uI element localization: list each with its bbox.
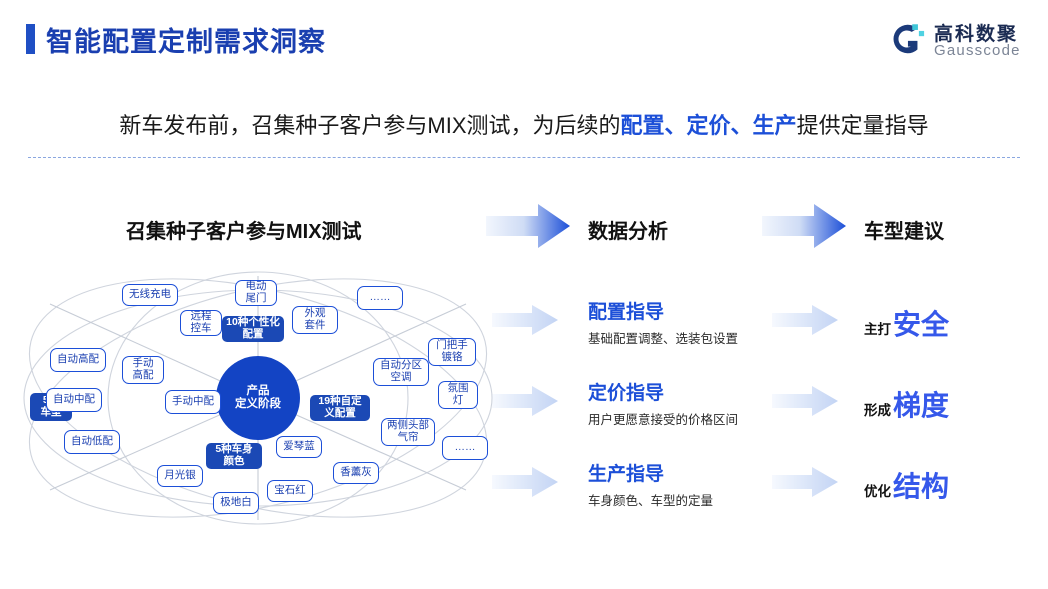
column-heading-data-analysis: 数据分析 [588, 215, 668, 244]
analysis-subtitle: 基础配置调整、选装包设置 [588, 328, 738, 347]
mindmap-node[interactable]: 电动 尾门 [235, 280, 277, 306]
mindmap-node[interactable]: 远程 控车 [180, 310, 222, 336]
mindmap-node[interactable]: 爱琴蓝 [276, 436, 322, 458]
section-divider [28, 157, 1020, 158]
mindmap-node[interactable]: 极地白 [213, 492, 259, 514]
suggestion-keyword: 梯度 [893, 384, 949, 424]
mindmap-node[interactable]: 氛围 灯 [438, 381, 478, 409]
mindmap-node[interactable]: 外观 套件 [292, 306, 338, 334]
analysis-title: 配置指导 [588, 297, 738, 324]
subtitle-highlight: 配置、定价、生产 [621, 113, 797, 138]
page-header: 智能配置定制需求洞察 高科数聚 Gausscode [0, 0, 1048, 76]
mindmap-node[interactable]: 自动分区 空调 [373, 358, 429, 386]
subtitle: 新车发布前，召集种子客户参与MIX测试，为后续的配置、定价、生产提供定量指导 [0, 108, 1048, 140]
mindmap-node[interactable]: 自动低配 [64, 430, 120, 454]
suggestion-item-safety: 主打 安全 [864, 303, 949, 343]
analysis-item-pricing: 定价指导 用户更愿意接受的价格区间 [588, 378, 738, 428]
mindmap-node[interactable]: 月光银 [157, 465, 203, 487]
mindmap-node[interactable]: 手动中配 [165, 390, 221, 414]
mindmap-node[interactable]: 香薰灰 [333, 462, 379, 484]
page-title: 智能配置定制需求洞察 [46, 20, 326, 59]
mindmap-badge-node[interactable]: 10种个性化 配置 [222, 316, 284, 342]
analysis-item-config: 配置指导 基础配置调整、选装包设置 [588, 297, 738, 347]
mindmap-node[interactable]: 宝石红 [267, 480, 313, 502]
logo-english-name: Gausscode [934, 42, 1021, 59]
mindmap-node[interactable]: 自动中配 [46, 388, 102, 412]
mindmap-hub-node[interactable]: 产品 定义阶段 [216, 356, 300, 440]
subtitle-part2: 提供定量指导 [797, 113, 929, 138]
subtitle-part1: 新车发布前，召集种子客户参与MIX测试，为后续的 [119, 113, 620, 138]
column-heading-mix-test: 召集种子客户参与MIX测试 [126, 215, 362, 244]
analysis-item-production: 生产指导 车身颜色、车型的定量 [588, 459, 713, 509]
suggestion-item-gradient: 形成 梯度 [864, 384, 949, 424]
suggestion-keyword: 结构 [893, 465, 949, 505]
gausscode-logo-icon [888, 20, 926, 58]
suggestion-prefix: 形成 [864, 399, 891, 419]
mindmap-node[interactable]: 手动 高配 [122, 356, 164, 384]
analysis-subtitle: 用户更愿意接受的价格区间 [588, 409, 738, 428]
suggestion-prefix: 优化 [864, 480, 891, 500]
mindmap-badge-node[interactable]: 5种车身 颜色 [206, 443, 262, 469]
brand-logo: 高科数聚 Gausscode [882, 16, 1032, 64]
mindmap-node[interactable]: …… [442, 436, 488, 460]
analysis-title: 定价指导 [588, 378, 738, 405]
mindmap-node[interactable]: 门把手 镀铬 [428, 338, 476, 366]
mindmap-node[interactable]: 无线充电 [122, 284, 178, 306]
right-arrow-icon [772, 386, 838, 416]
mindmap-node[interactable]: 两侧头部 气帘 [381, 418, 435, 446]
suggestion-keyword: 安全 [893, 303, 949, 343]
suggestion-item-structure: 优化 结构 [864, 465, 949, 505]
right-arrow-icon [772, 305, 838, 335]
analysis-title: 生产指导 [588, 459, 713, 486]
right-arrow-icon [486, 204, 570, 248]
title-accent-bar [26, 24, 35, 54]
mindmap-node[interactable]: 自动高配 [50, 348, 106, 372]
suggestion-prefix: 主打 [864, 318, 891, 338]
analysis-subtitle: 车身颜色、车型的定量 [588, 490, 713, 509]
mindmap-badge-node[interactable]: 19种自定 义配置 [310, 395, 370, 421]
right-arrow-icon [772, 467, 838, 497]
column-heading-model-advice: 车型建议 [864, 215, 944, 244]
right-arrow-icon [762, 204, 846, 248]
mindmap-node[interactable]: …… [357, 286, 403, 310]
mindmap-diagram: 产品 定义阶段 10种个性化 配置 5款 车型 19种自定 义配置 5种车身 颜… [10, 258, 510, 538]
